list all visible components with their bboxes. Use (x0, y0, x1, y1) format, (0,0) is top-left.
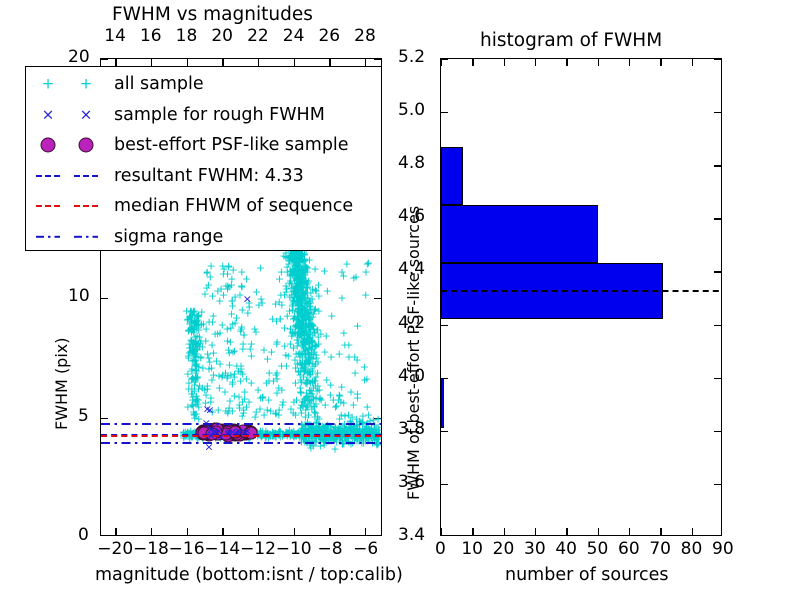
scatter-point: + (299, 298, 308, 309)
scatter-point: + (298, 254, 307, 265)
scatter-point: × (243, 294, 252, 305)
hist-x-tick-label: 60 (618, 541, 640, 558)
y-tick-right (374, 418, 381, 419)
scatter-point: + (322, 331, 331, 342)
bottom-tick-label: −20 (97, 541, 133, 558)
scatter-point: + (295, 307, 304, 318)
scatter-point: + (340, 339, 349, 350)
right-panel-title: histogram of FWHM (480, 30, 662, 51)
dashed-line-icon (74, 175, 98, 177)
scatter-point: + (217, 283, 226, 294)
scatter-point: + (296, 255, 305, 266)
sigma-range-lower-line (101, 442, 381, 444)
scatter-point: + (286, 266, 295, 277)
scatter-point: + (335, 348, 344, 359)
scatter-point: + (302, 356, 311, 367)
scatter-point: + (305, 315, 314, 326)
scatter-point: + (337, 382, 346, 393)
y-tick-label: 0 (78, 527, 89, 544)
scatter-point: + (298, 310, 307, 321)
scatter-point: + (300, 338, 309, 349)
x-tick-top (222, 59, 223, 66)
scatter-point: + (344, 410, 353, 421)
scatter-point: + (289, 294, 298, 305)
scatter-point: + (213, 329, 222, 340)
legend-item-2[interactable]: best-effort PSF-like sample (26, 130, 381, 161)
scatter-point: + (299, 311, 308, 322)
scatter-point: + (191, 395, 200, 406)
scatter-point: + (186, 343, 195, 354)
scatter-point: + (302, 262, 311, 273)
scatter-point: + (294, 274, 303, 285)
scatter-point: + (257, 294, 266, 305)
scatter-point: + (289, 408, 298, 419)
scatter-point: + (188, 395, 197, 406)
scatter-point: + (234, 391, 243, 402)
scatter-point: + (191, 317, 200, 328)
scatter-point: + (308, 321, 317, 332)
scatter-point: + (300, 343, 309, 354)
scatter-point: + (300, 328, 309, 339)
hist-y-tick-right (714, 431, 721, 432)
scatter-point: + (350, 421, 359, 432)
legend-item-4[interactable]: median FHWM of sequence (26, 191, 381, 222)
scatter-point: + (191, 335, 200, 346)
scatter-point: + (198, 382, 207, 393)
scatter-point: + (295, 270, 304, 281)
scatter-point: + (297, 265, 306, 276)
scatter-point: + (294, 283, 303, 294)
scatter-point: + (339, 439, 348, 450)
scatter-point: + (293, 288, 302, 299)
scatter-point: + (300, 333, 309, 344)
scatter-point: + (300, 308, 309, 319)
y-tick-label: 5 (78, 408, 89, 425)
hist-x-tick-label: 80 (681, 541, 703, 558)
scatter-point: + (286, 276, 295, 287)
scatter-point: + (294, 300, 303, 311)
scatter-point: + (187, 326, 196, 337)
scatter-point: + (298, 282, 307, 293)
scatter-point: + (283, 252, 292, 263)
scatter-point: + (298, 397, 307, 408)
scatter-point (209, 426, 222, 439)
scatter-point: + (190, 315, 199, 326)
scatter-point (229, 426, 242, 439)
scatter-point: + (298, 339, 307, 350)
hist-x-tick-label: 50 (587, 541, 609, 558)
scatter-point: + (191, 351, 200, 362)
scatter-point: + (213, 286, 222, 297)
scatter-point: + (305, 357, 314, 368)
scatter-point: + (313, 386, 322, 397)
scatter-point (236, 426, 249, 439)
scatter-point: + (196, 336, 205, 347)
scatter-point (233, 426, 246, 439)
scatter-point: + (295, 253, 304, 264)
scatter-point: + (302, 262, 311, 273)
scatter-point: + (311, 381, 320, 392)
scatter-point: + (192, 344, 201, 355)
scatter-point: + (299, 339, 308, 350)
scatter-point: + (291, 259, 300, 270)
scatter-point: + (188, 344, 197, 355)
scatter-point: + (192, 348, 201, 359)
scatter-point: + (237, 323, 246, 334)
scatter-point: + (294, 303, 303, 314)
y-tick-right (374, 298, 381, 299)
scatter-point: + (294, 271, 303, 282)
scatter-point: + (303, 277, 312, 288)
scatter-point: + (187, 399, 196, 410)
scatter-point: + (227, 280, 236, 291)
scatter-point: + (361, 290, 370, 301)
scatter-point: + (190, 325, 199, 336)
scatter-point: + (308, 329, 317, 340)
scatter-point: + (295, 357, 304, 368)
scatter-point: + (351, 368, 360, 379)
scatter-point: + (300, 358, 309, 369)
legend-item-0[interactable]: ++all sample (26, 69, 381, 100)
scatter-point: + (314, 279, 323, 290)
scatter-point: + (329, 394, 338, 405)
scatter-point: + (313, 367, 322, 378)
scatter-point: + (187, 322, 196, 333)
scatter-point: + (196, 352, 205, 363)
scatter-point: + (363, 259, 372, 270)
scatter-point: + (304, 299, 313, 310)
scatter-point: + (192, 360, 201, 371)
scatter-point: + (292, 274, 301, 285)
scatter-point: + (295, 352, 304, 363)
scatter-point: + (298, 301, 307, 312)
scatter-point: + (223, 324, 232, 335)
scatter-point: + (226, 336, 235, 347)
scatter-point: + (300, 302, 309, 313)
scatter-point: + (262, 377, 271, 388)
scatter-point: + (297, 399, 306, 410)
scatter-point: + (281, 251, 290, 262)
scatter-point: + (188, 355, 197, 366)
scatter-point: + (302, 283, 311, 294)
scatter-point: + (288, 268, 297, 279)
scatter-point: + (301, 378, 310, 389)
hist-x-tick-bottom (504, 528, 505, 535)
scatter-point: + (337, 267, 346, 278)
hist-x-tick-label: 0 (435, 541, 446, 558)
legend-item-label: all sample (114, 74, 204, 94)
scatter-point: + (184, 377, 193, 388)
x-tick-top (187, 59, 188, 66)
scatter-point: + (301, 350, 310, 361)
hist-x-tick-top (660, 59, 661, 66)
scatter-point: + (295, 265, 304, 276)
legend-item-label: best-effort PSF-like sample (114, 135, 349, 155)
scatter-point: + (291, 283, 300, 294)
scatter-point: + (305, 370, 314, 381)
scatter-point: + (230, 368, 239, 379)
scatter-point: + (309, 308, 318, 319)
scatter-point: + (190, 318, 199, 329)
scatter-point: + (298, 338, 307, 349)
scatter-point: + (301, 364, 310, 375)
scatter-point: + (305, 335, 314, 346)
scatter-point: + (301, 348, 310, 359)
scatter-point: + (327, 310, 336, 321)
scatter-point: + (298, 277, 307, 288)
dash-dot-line-icon (36, 236, 60, 238)
scatter-point: + (301, 321, 310, 332)
scatter-point: + (192, 317, 201, 328)
scatter-point: + (191, 374, 200, 385)
scatter-point: + (290, 270, 299, 281)
scatter-point: + (294, 276, 303, 287)
scatter-point: + (303, 293, 312, 304)
scatter-point: + (187, 374, 196, 385)
scatter-point: + (363, 402, 372, 413)
scatter-point: + (351, 271, 360, 282)
scatter-point: + (289, 285, 298, 296)
right-xaxis-title: number of sources (505, 565, 669, 585)
scatter-point: + (303, 306, 312, 317)
scatter-point: + (194, 320, 203, 331)
scatter-point: + (300, 397, 309, 408)
scatter-point: + (237, 267, 246, 278)
left-panel-title: FWHM vs magnitudes (112, 4, 313, 25)
scatter-point: + (308, 312, 317, 323)
scatter-point (236, 426, 249, 439)
scatter-point: + (293, 310, 302, 321)
scatter-point: + (187, 307, 196, 318)
scatter-point: + (289, 296, 298, 307)
scatter-point: + (300, 361, 309, 372)
scatter-point: + (182, 306, 191, 317)
scatter-point: + (296, 319, 305, 330)
scatter-point: + (295, 279, 304, 290)
bottom-tick-label: −10 (276, 541, 312, 558)
scatter-point: + (305, 352, 314, 363)
x-tick-bottom (151, 528, 152, 535)
scatter-point: + (298, 294, 307, 305)
scatter-point: + (295, 290, 304, 301)
scatter-point: + (298, 316, 307, 327)
scatter-point: + (297, 251, 306, 262)
scatter-point: + (296, 326, 305, 337)
scatter-point: + (188, 341, 197, 352)
scatter-point: + (258, 391, 267, 402)
scatter-point: + (311, 304, 320, 315)
scatter-point: + (349, 399, 358, 410)
histogram-bar (441, 205, 598, 263)
scatter-point: + (208, 290, 217, 301)
scatter-point: + (288, 251, 297, 262)
scatter-point: + (292, 274, 301, 285)
scatter-point: + (296, 301, 305, 312)
scatter-point: + (254, 300, 263, 311)
scatter-point: + (292, 252, 301, 263)
histogram-bar (441, 378, 444, 428)
legend-item-label: sample for rough FWHM (114, 105, 325, 125)
scatter-point: + (300, 278, 309, 289)
scatter-point: + (307, 334, 316, 345)
scatter-point: + (290, 265, 299, 276)
scatter-point: + (186, 306, 195, 317)
scatter-point: + (304, 338, 313, 349)
hist-y-tick-right (714, 112, 721, 113)
legend-item-1[interactable]: ××sample for rough FWHM (26, 100, 381, 131)
scatter-point: + (297, 388, 306, 399)
scatter-point: + (293, 319, 302, 330)
scatter-point: + (289, 396, 298, 407)
scatter-point: + (297, 363, 306, 374)
scatter-point: + (193, 372, 202, 383)
scatter-point: + (305, 367, 314, 378)
scatter-point: + (300, 313, 309, 324)
legend-item-5[interactable]: sigma range (26, 222, 381, 253)
scatter-point: + (296, 328, 305, 339)
scatter-point: + (306, 288, 315, 299)
scatter-point: + (292, 252, 301, 263)
scatter-point: + (300, 332, 309, 343)
scatter-point: + (291, 272, 300, 283)
scatter-point: + (284, 256, 293, 267)
scatter-point: + (305, 350, 314, 361)
bottom-tick-label: −14 (204, 541, 240, 558)
scatter-point: + (293, 314, 302, 325)
scatter-point: + (192, 358, 201, 369)
scatter-point: + (203, 267, 212, 278)
hist-y-tick-right (714, 218, 721, 219)
scatter-point: + (204, 279, 213, 290)
scatter-point: + (353, 389, 362, 400)
scatter-point: + (194, 362, 203, 373)
hist-x-tick-bottom (566, 528, 567, 535)
scatter-point: + (259, 345, 268, 356)
hist-x-tick-bottom (629, 528, 630, 535)
scatter-point: + (302, 263, 311, 274)
scatter-point: + (308, 320, 317, 331)
scatter-point: + (298, 296, 307, 307)
top-tick-label: 28 (354, 28, 376, 45)
scatter-point: + (187, 317, 196, 328)
scatter-point: + (293, 291, 302, 302)
scatter-point: + (232, 360, 241, 371)
scatter-point: + (308, 377, 317, 388)
scatter-point: + (293, 259, 302, 270)
scatter-point (217, 426, 230, 439)
y-tick-left (101, 59, 108, 60)
top-tick-label: 22 (247, 28, 269, 45)
scatter-point: + (297, 286, 306, 297)
scatter-point: + (308, 283, 317, 294)
top-tick-label: 24 (283, 28, 305, 45)
scatter-point: + (297, 302, 306, 313)
scatter-point: + (185, 311, 194, 322)
scatter-point: + (296, 265, 305, 276)
scatter-point: + (287, 289, 296, 300)
scatter-point: + (283, 266, 292, 277)
x-tick-top (294, 59, 295, 66)
scatter-point: + (318, 420, 327, 431)
scatter-point: + (212, 356, 221, 367)
scatter-point: + (279, 251, 288, 262)
scatter-point: + (192, 339, 201, 350)
y-tick-label: 10 (68, 288, 90, 305)
scatter-point: + (189, 307, 198, 318)
scatter-point: + (315, 393, 324, 404)
scatter-point: + (288, 254, 297, 265)
scatter-point: + (364, 257, 373, 268)
scatter-point: + (191, 377, 200, 388)
scatter-point: + (307, 337, 316, 348)
scatter-point: + (293, 329, 302, 340)
scatter-point: + (187, 339, 196, 350)
scatter-point: + (240, 386, 249, 397)
scatter-point: + (298, 400, 307, 411)
scatter-point: + (306, 297, 315, 308)
scatter-point: + (296, 272, 305, 283)
scatter-point: + (252, 407, 261, 418)
scatter-point: + (304, 349, 313, 360)
scatter-point: + (291, 269, 300, 280)
scatter-point: + (211, 328, 220, 339)
scatter-point: + (222, 373, 231, 384)
hist-y-tick-label: 3.4 (398, 527, 425, 544)
scatter-legend[interactable]: ++all sample××sample for rough FWHMbest-… (25, 66, 382, 251)
scatter-point: + (297, 350, 306, 361)
scatter-point: + (288, 304, 297, 315)
scatter-point: + (289, 286, 298, 297)
scatter-point: + (342, 258, 351, 269)
scatter-point: + (224, 262, 233, 273)
scatter-point: + (294, 304, 303, 315)
scatter-point: + (225, 359, 234, 370)
scatter-point: + (304, 356, 313, 367)
scatter-point: + (239, 404, 248, 415)
scatter-point: + (271, 370, 280, 381)
scatter-point: + (303, 281, 312, 292)
scatter-point: + (291, 289, 300, 300)
scatter-point: + (297, 330, 306, 341)
scatter-point: + (324, 435, 333, 446)
scatter-point: + (190, 355, 199, 366)
scatter-point: + (292, 273, 301, 284)
scatter-point: + (185, 311, 194, 322)
scatter-point: + (299, 256, 308, 267)
scatter-point: + (299, 316, 308, 327)
scatter-point: + (302, 311, 311, 322)
scatter-point: + (293, 255, 302, 266)
scatter-point: + (243, 308, 252, 319)
legend-item-3[interactable]: resultant FWHM: 4.33 (26, 161, 381, 192)
scatter-point: + (297, 376, 306, 387)
scatter-point: + (352, 421, 361, 432)
scatter-point: + (313, 380, 322, 391)
scatter-point: + (302, 392, 311, 403)
y-tick-right (374, 59, 381, 60)
scatter-point: + (201, 336, 210, 347)
scatter-point: + (284, 258, 293, 269)
scatter-point: + (293, 262, 302, 273)
scatter-point: + (193, 311, 202, 322)
scatter-point: + (306, 443, 315, 454)
scatter-point: + (236, 360, 245, 371)
scatter-point: + (225, 281, 234, 292)
scatter-point: + (272, 336, 281, 347)
scatter-point: + (326, 390, 335, 401)
scatter-point: + (219, 269, 228, 280)
scatter-point: + (302, 264, 311, 275)
